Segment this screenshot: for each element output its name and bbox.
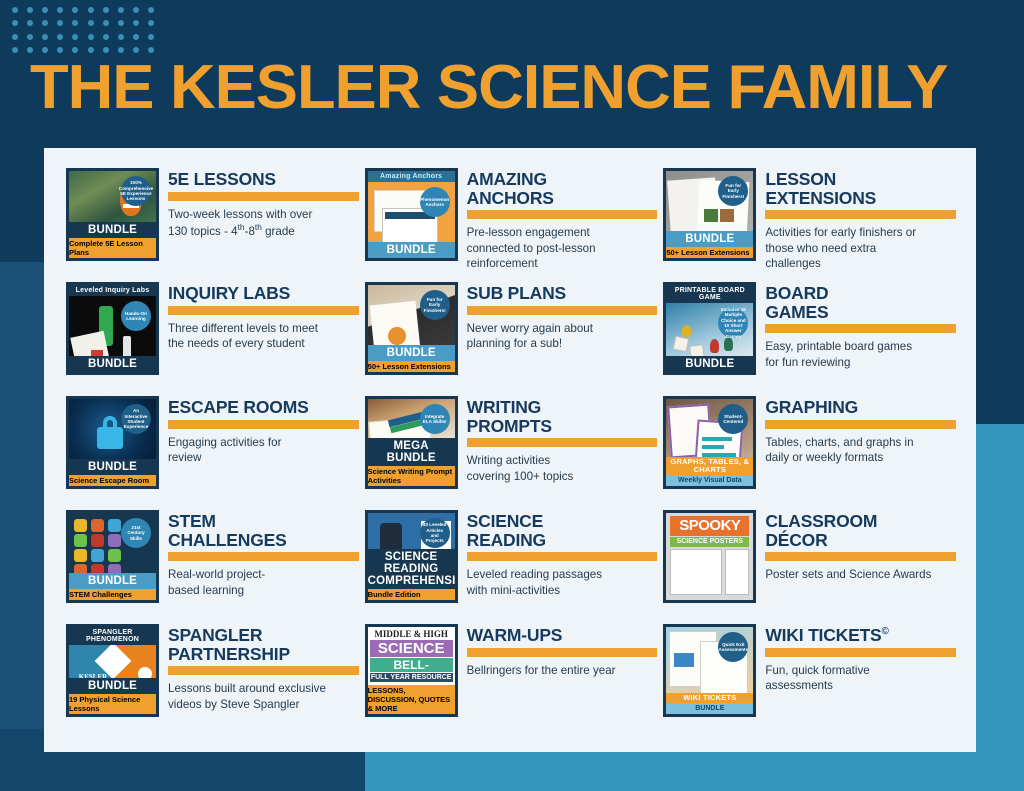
thumbnail-sub-footer-label: STEM Challenges (69, 589, 156, 600)
thumbnail-sub-footer-label: BUNDLE (666, 703, 753, 714)
product-thumbnail[interactable]: 100% Comprehensive 5E Experience Lessons… (66, 168, 159, 261)
product-item[interactable]: PRINTABLE BOARD GAMEIncludes 15 Multiple… (663, 282, 962, 396)
product-thumbnail[interactable]: SPANGLER PHENOMENONKESLERSCIENCEBUNDLE19… (66, 624, 159, 717)
thumbnail-artwork: 40 Leveled Articles and Projects (368, 513, 455, 549)
product-description: Pre-lesson engagement connected to post-… (467, 225, 658, 271)
orange-divider-rule (765, 552, 956, 561)
thumbnail-footer-label: BUNDLE (69, 573, 156, 589)
product-name: SPANGLER PARTNERSHIP (168, 626, 359, 663)
orange-divider-rule (168, 192, 359, 201)
product-description: Poster sets and Science Awards (765, 567, 956, 582)
left-accent-band (0, 262, 48, 730)
dot (12, 20, 18, 26)
dot (27, 7, 33, 13)
product-item[interactable]: Fun for Early Finishers!BUNDLE50+ Lesson… (663, 168, 962, 282)
product-name: STEM CHALLENGES (168, 512, 359, 549)
product-name: LESSON EXTENSIONS (765, 170, 956, 207)
orange-divider-rule (467, 210, 658, 219)
product-text-block: ESCAPE ROOMSEngaging activities for revi… (168, 396, 359, 465)
product-thumbnail[interactable]: An Interactive Student ExperienceBUNDLES… (66, 396, 159, 489)
thumbnail-top-label: Amazing Anchors (368, 171, 455, 182)
thumbnail-artwork: Fun for Early Finishers! (368, 285, 455, 345)
product-text-block: INQUIRY LABSThree different levels to me… (168, 282, 359, 351)
thumbnail-badge: Fun for Early Finishers! (420, 290, 450, 320)
products-card: 100% Comprehensive 5E Experience Lessons… (44, 148, 976, 752)
thumbnail-top-label: Leveled Inquiry Labs (69, 285, 156, 296)
product-name: WIKI TICKETS© (765, 626, 956, 645)
thumbnail-badge: Includes 15 Multiple Choice and 10 Short… (718, 308, 748, 338)
product-item[interactable]: 100% Comprehensive 5E Experience Lessons… (66, 168, 365, 282)
product-item[interactable]: An Interactive Student ExperienceBUNDLES… (66, 396, 365, 510)
thumbnail-badge: 100% Comprehensive 5E Experience Lessons (121, 176, 151, 206)
dot (133, 34, 139, 40)
product-description: Easy, printable board games for fun revi… (765, 339, 956, 370)
dot (27, 34, 33, 40)
dot (103, 20, 109, 26)
thumbnail-artwork: Integrate ELA Skills! (368, 399, 455, 438)
dot (72, 7, 78, 13)
product-item[interactable]: 21st Century SkillsBUNDLESTEM Challenges… (66, 510, 365, 624)
orange-divider-rule (168, 420, 359, 429)
product-item[interactable]: SPOOKYSCIENCE POSTERSCLASSROOM DÉCORPost… (663, 510, 962, 624)
product-thumbnail[interactable]: Student-CenteredGRAPHS, TABLES, & CHARTS… (663, 396, 756, 489)
thumbnail-footer-label: BUNDLE (368, 242, 455, 258)
orange-divider-rule (765, 420, 956, 429)
product-item[interactable]: Fun for Early Finishers!BUNDLE50+ Lesson… (365, 282, 664, 396)
dot (42, 20, 48, 26)
product-thumbnail[interactable]: Quick Exit AssessmentsWIKI TICKETSBUNDLE (663, 624, 756, 717)
product-description: Leveled reading passages with mini-activ… (467, 567, 658, 598)
orange-divider-rule (765, 210, 956, 219)
thumbnail-footer-label: BUNDLE (666, 231, 753, 247)
product-item[interactable]: Leveled Inquiry LabsHands-On LearningBUN… (66, 282, 365, 396)
product-thumbnail[interactable]: Fun for Early Finishers!BUNDLE50+ Lesson… (663, 168, 756, 261)
thumbnail-top-label: PRINTABLE BOARD GAME (666, 285, 753, 303)
product-text-block: LESSON EXTENSIONSActivities for early fi… (765, 168, 956, 271)
page-title: THE KESLER SCIENCE FAMILY (30, 57, 1024, 119)
product-text-block: CLASSROOM DÉCORPoster sets and Science A… (765, 510, 956, 583)
thumbnail-artwork: 21st Century Skills (69, 513, 156, 573)
thumbnail-artwork: Fun for Early Finishers! (666, 171, 753, 231)
dot (57, 34, 63, 40)
thumbnail-badge: Hands-On Learning (121, 301, 151, 331)
thumbnail-artwork: 100% Comprehensive 5E Experience Lessons (69, 171, 156, 222)
product-name: GRAPHING (765, 398, 956, 417)
product-text-block: SCIENCE READINGLeveled reading passages … (467, 510, 658, 598)
product-description: Engaging activities for review (168, 435, 359, 466)
dot (72, 20, 78, 26)
product-description: Activities for early finishers or those … (765, 225, 956, 271)
orange-divider-rule (168, 306, 359, 315)
dot (42, 7, 48, 13)
dot (27, 20, 33, 26)
thumbnail-sub-footer-label: Science Writing Prompt Activities (368, 466, 455, 486)
dot (88, 7, 94, 13)
product-thumbnail[interactable]: MIDDLE & HIGHSCIENCEBELL-RINGERSFULL YEA… (365, 624, 458, 717)
product-name: 5E LESSONS (168, 170, 359, 189)
product-description: Never worry again about planning for a s… (467, 321, 658, 352)
thumbnail-artwork: SPOOKYSCIENCE POSTERS (666, 513, 753, 600)
thumbnail-artwork: MIDDLE & HIGHSCIENCEBELL-RINGERSFULL YEA… (368, 627, 455, 685)
product-thumbnail[interactable]: PRINTABLE BOARD GAMEIncludes 15 Multiple… (663, 282, 756, 375)
dot (118, 20, 124, 26)
dot (103, 34, 109, 40)
orange-divider-rule (467, 306, 658, 315)
thumbnail-badge: An Interactive Student Experience (121, 404, 151, 434)
product-item[interactable]: 40 Leveled Articles and ProjectsSCIENCE … (365, 510, 664, 624)
thumbnail-sub-footer-label: Bundle Edition (368, 589, 455, 600)
product-name: SCIENCE READING (467, 512, 658, 549)
product-name: AMAZING ANCHORS (467, 170, 658, 207)
thumbnail-artwork: KESLERSCIENCE (69, 645, 156, 678)
orange-divider-rule (168, 666, 359, 675)
product-thumbnail[interactable]: SPOOKYSCIENCE POSTERS (663, 510, 756, 603)
thumbnail-artwork: Hands-On Learning (69, 296, 156, 356)
dot-pattern-decoration (7, 3, 159, 57)
product-name: INQUIRY LABS (168, 284, 359, 303)
thumbnail-sub-footer-label: 50+ Lesson Extensions (368, 361, 455, 372)
product-description: Real-world project- based learning (168, 567, 359, 598)
dot (12, 34, 18, 40)
product-description: Bellringers for the entire year (467, 663, 658, 678)
thumbnail-top-label: SPANGLER PHENOMENON (69, 627, 156, 645)
product-text-block: SUB PLANSNever worry again about plannin… (467, 282, 658, 351)
thumbnail-artwork: Student-Centered (666, 399, 753, 457)
product-text-block: WIKI TICKETS©Fun, quick formative assess… (765, 624, 956, 693)
dot (57, 20, 63, 26)
dot (12, 7, 18, 13)
dot (118, 7, 124, 13)
product-text-block: 5E LESSONSTwo-week lessons with over130 … (168, 168, 359, 239)
product-item[interactable]: Integrate ELA Skills!MEGA BUNDLEScience … (365, 396, 664, 510)
thumbnail-artwork: Includes 15 Multiple Choice and 10 Short… (666, 303, 753, 356)
thumbnail-footer-label: BUNDLE (69, 356, 156, 372)
thumbnail-footer-label: MEGA BUNDLE (368, 438, 455, 466)
orange-divider-rule (467, 648, 658, 657)
product-thumbnail[interactable]: Fun for Early Finishers!BUNDLE50+ Lesson… (365, 282, 458, 375)
dot (72, 34, 78, 40)
thumbnail-sub-footer-label: Science Escape Room (69, 475, 156, 486)
product-grid: 100% Comprehensive 5E Experience Lessons… (66, 168, 962, 738)
thumbnail-footer-label: BUNDLE (69, 459, 156, 475)
thumbnail-sub-footer-label: Weekly Visual Data (666, 475, 753, 486)
dot (57, 7, 63, 13)
product-item[interactable]: MIDDLE & HIGHSCIENCEBELL-RINGERSFULL YEA… (365, 624, 664, 738)
thumbnail-footer-label: BUNDLE (368, 345, 455, 361)
orange-divider-rule (765, 648, 956, 657)
dot (42, 34, 48, 40)
dot (148, 7, 154, 13)
dot (12, 47, 18, 53)
product-thumbnail[interactable]: 40 Leveled Articles and ProjectsSCIENCE … (365, 510, 458, 603)
dot (88, 34, 94, 40)
infographic-page: THE KESLER SCIENCE FAMILY 100% Comprehen… (0, 0, 1024, 791)
thumbnail-sub-footer-label: Complete 5E Lesson Plans (69, 238, 156, 258)
product-description: Lessons built around exclusive videos by… (168, 681, 359, 712)
product-text-block: BOARD GAMESEasy, printable board games f… (765, 282, 956, 370)
thumbnail-badge: Integrate ELA Skills! (420, 404, 450, 434)
product-thumbnail[interactable]: Integrate ELA Skills!MEGA BUNDLEScience … (365, 396, 458, 489)
dot (133, 20, 139, 26)
thumbnail-footer-label: SCIENCE READING COMPREHENSION (368, 549, 455, 589)
thumbnail-badge: 40 Leveled Articles and Projects (420, 518, 450, 548)
product-text-block: STEM CHALLENGESReal-world project- based… (168, 510, 359, 598)
product-description: Tables, charts, and graphs in daily or w… (765, 435, 956, 466)
orange-divider-rule (765, 324, 956, 333)
dot (148, 20, 154, 26)
orange-divider-rule (467, 552, 658, 561)
product-thumbnail[interactable]: Amazing AnchorsPhenomenon AnchorsBUNDLE (365, 168, 458, 261)
product-item[interactable]: Quick Exit AssessmentsWIKI TICKETSBUNDLE… (663, 624, 962, 738)
thumbnail-artwork: Quick Exit Assessments (666, 627, 753, 693)
thumbnail-badge: Student-Centered (718, 404, 748, 434)
dot (118, 34, 124, 40)
thumbnail-footer-label: GRAPHS, TABLES, & CHARTS (666, 457, 753, 475)
dot (88, 20, 94, 26)
dot (133, 7, 139, 13)
product-name: WRITING PROMPTS (467, 398, 658, 435)
product-thumbnail[interactable]: 21st Century SkillsBUNDLESTEM Challenges (66, 510, 159, 603)
thumbnail-footer-label: BUNDLE (69, 678, 156, 694)
thumbnail-footer-label: BUNDLE (666, 356, 753, 372)
product-name: CLASSROOM DÉCOR (765, 512, 956, 549)
product-description: Writing activities covering 100+ topics (467, 453, 658, 484)
product-description: Three different levels to meet the needs… (168, 321, 359, 352)
product-text-block: AMAZING ANCHORSPre-lesson engagement con… (467, 168, 658, 271)
product-item[interactable]: SPANGLER PHENOMENONKESLERSCIENCEBUNDLE19… (66, 624, 365, 738)
dot (148, 34, 154, 40)
product-text-block: SPANGLER PARTNERSHIPLessons built around… (168, 624, 359, 712)
dot (103, 7, 109, 13)
thumbnail-artwork: An Interactive Student Experience (69, 399, 156, 459)
product-name: ESCAPE ROOMS (168, 398, 359, 417)
product-item[interactable]: Amazing AnchorsPhenomenon AnchorsBUNDLEA… (365, 168, 664, 282)
product-item[interactable]: Student-CenteredGRAPHS, TABLES, & CHARTS… (663, 396, 962, 510)
thumbnail-footer-label: BUNDLE (69, 222, 156, 238)
product-description: Fun, quick formative assessments (765, 663, 956, 694)
thumbnail-badge: 21st Century Skills (121, 518, 151, 548)
thumbnail-sub-footer-label: LESSONS, DISCUSSION, QUOTES & MORE (368, 685, 455, 714)
orange-divider-rule (467, 438, 658, 447)
thumbnail-sub-footer-label: 50+ Lesson Extensions (666, 247, 753, 258)
thumbnail-footer-label: WIKI TICKETS (666, 693, 753, 703)
product-thumbnail[interactable]: Leveled Inquiry LabsHands-On LearningBUN… (66, 282, 159, 375)
product-name: WARM-UPS (467, 626, 658, 645)
thumbnail-sub-footer-label: 19 Physical Science Lessons (69, 694, 156, 714)
thumbnail-badge: Phenomenon Anchors (420, 187, 450, 217)
orange-divider-rule (168, 552, 359, 561)
thumbnail-artwork: Phenomenon Anchors (368, 182, 455, 242)
product-description: Two-week lessons with over130 topics - 4… (168, 207, 359, 239)
product-text-block: WARM-UPSBellringers for the entire year (467, 624, 658, 678)
product-name: BOARD GAMES (765, 284, 956, 321)
product-name: SUB PLANS (467, 284, 658, 303)
product-text-block: WRITING PROMPTSWriting activities coveri… (467, 396, 658, 484)
product-text-block: GRAPHINGTables, charts, and graphs in da… (765, 396, 956, 465)
